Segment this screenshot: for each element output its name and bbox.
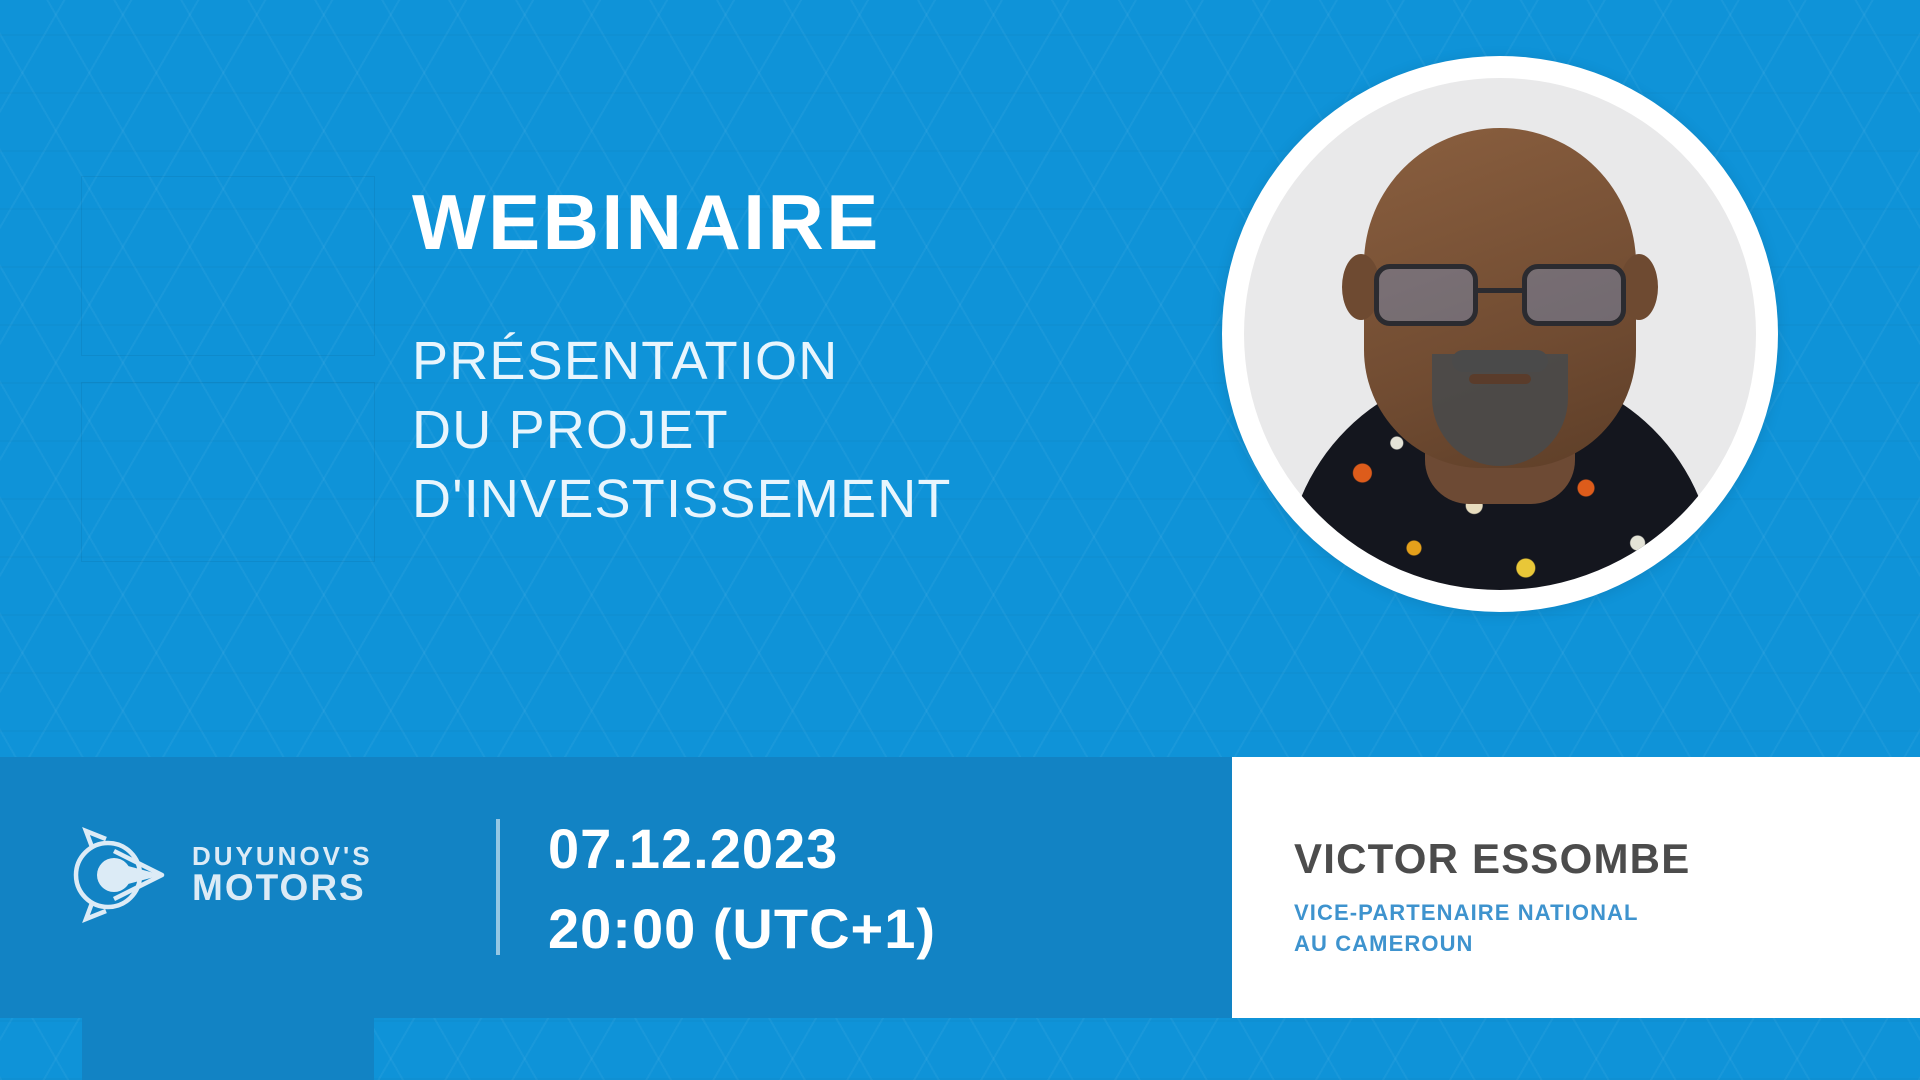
webinar-announcement-banner: WEBINAIRE PRÉSENTATION DU PROJET D'INVES… bbox=[0, 0, 1920, 1080]
event-info-band: DUYUNOV'S MOTORS 07.12.2023 20:00 (UTC+1… bbox=[0, 757, 1232, 1018]
speaker-portrait-photo bbox=[1244, 78, 1756, 590]
portrait-mouth bbox=[1469, 374, 1531, 384]
speaker-role-line-1: VICE-PARTENAIRE NATIONAL bbox=[1294, 897, 1690, 928]
portrait-glasses-icon bbox=[1374, 264, 1626, 326]
event-time: 20:00 (UTC+1) bbox=[548, 889, 936, 969]
subtitle-line-2: DU PROJET bbox=[412, 396, 952, 465]
flags-stack bbox=[82, 177, 374, 561]
cameroon-flag bbox=[82, 383, 374, 561]
speaker-portrait-frame bbox=[1222, 56, 1778, 612]
duyunovs-motors-logo-icon bbox=[62, 821, 170, 929]
hero-section: WEBINAIRE PRÉSENTATION DU PROJET D'INVES… bbox=[0, 0, 1920, 757]
speaker-name: VICTOR ESSOMBE bbox=[1294, 835, 1690, 883]
subtitle-line-3: D'INVESTISSEMENT bbox=[412, 465, 952, 534]
title-block: WEBINAIRE PRÉSENTATION DU PROJET D'INVES… bbox=[412, 183, 952, 534]
portrait-lens-right bbox=[1522, 264, 1626, 326]
brand-line-2: MOTORS bbox=[192, 869, 373, 907]
brand-logo-text: DUYUNOV'S MOTORS bbox=[192, 843, 373, 907]
event-datetime: 07.12.2023 20:00 (UTC+1) bbox=[548, 809, 936, 968]
portrait-glasses-bridge bbox=[1478, 288, 1522, 293]
brand-logo: DUYUNOV'S MOTORS bbox=[62, 821, 373, 929]
speaker-role-line-2: AU CAMEROUN bbox=[1294, 928, 1690, 959]
page-subtitle: PRÉSENTATION DU PROJET D'INVESTISSEMENT bbox=[412, 327, 952, 534]
portrait-lens-left bbox=[1374, 264, 1478, 326]
vertical-divider bbox=[496, 819, 500, 955]
france-flag bbox=[82, 177, 374, 355]
event-date: 07.12.2023 bbox=[548, 809, 936, 889]
speaker-role: VICE-PARTENAIRE NATIONAL AU CAMEROUN bbox=[1294, 897, 1690, 959]
page-title: WEBINAIRE bbox=[412, 183, 952, 261]
brand-line-1: DUYUNOV'S bbox=[192, 843, 373, 870]
subtitle-line-1: PRÉSENTATION bbox=[412, 327, 952, 396]
speaker-card: VICTOR ESSOMBE VICE-PARTENAIRE NATIONAL … bbox=[1232, 757, 1920, 1018]
speaker-card-content: VICTOR ESSOMBE VICE-PARTENAIRE NATIONAL … bbox=[1294, 835, 1690, 959]
